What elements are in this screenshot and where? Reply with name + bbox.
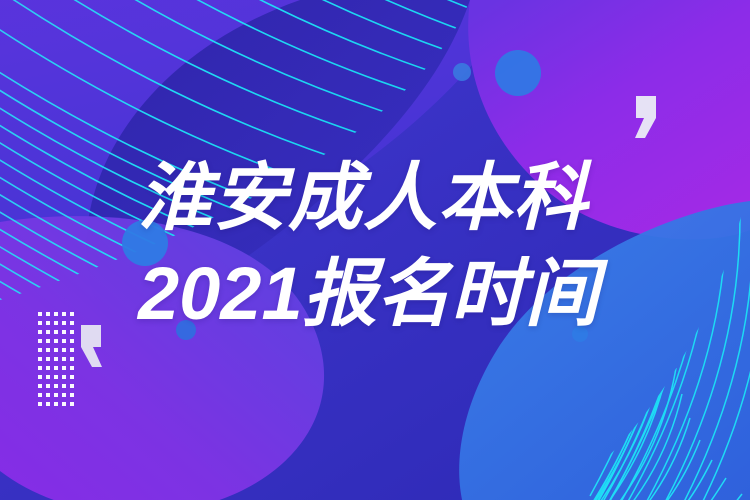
circle-mid-left bbox=[122, 220, 168, 266]
circle-large-top bbox=[495, 50, 541, 96]
promo-banner: 淮安成人本科 2021报名时间 bbox=[0, 0, 750, 500]
banner-artwork bbox=[0, 0, 750, 500]
circle-small-right bbox=[572, 326, 588, 342]
circle-small-top bbox=[453, 63, 471, 81]
circle-small-mid bbox=[176, 320, 196, 340]
